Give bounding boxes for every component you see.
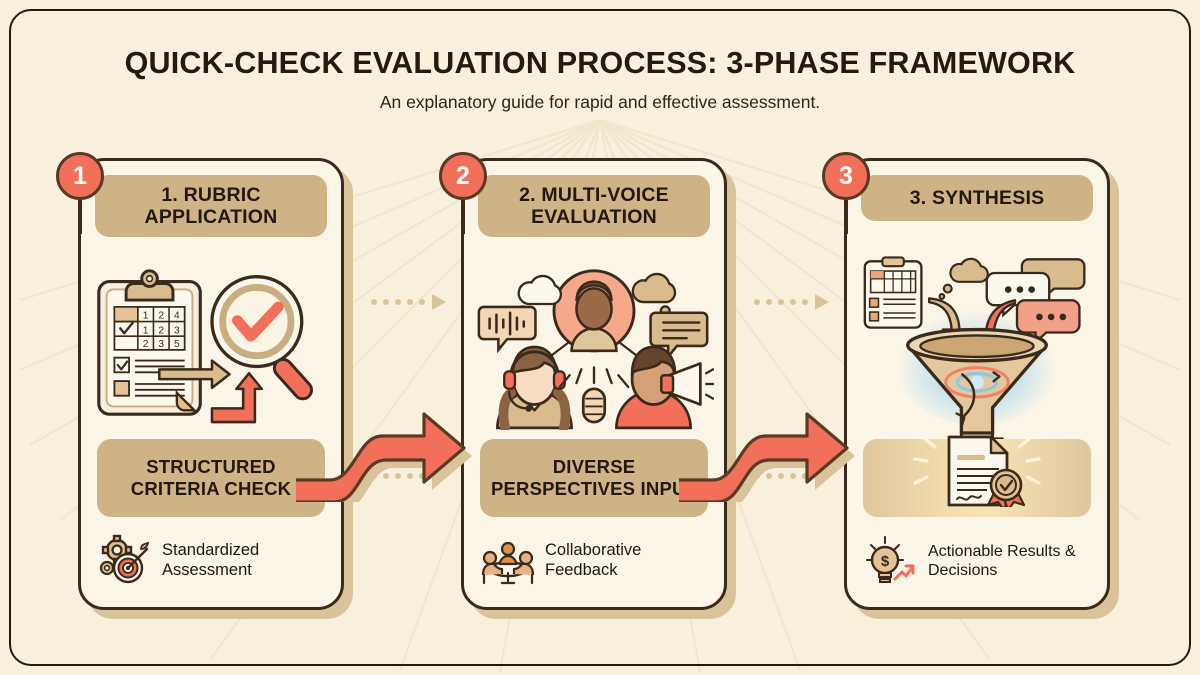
card-3-heading: 3. SYNTHESIS xyxy=(910,187,1045,209)
svg-text:2: 2 xyxy=(143,339,149,350)
svg-text:2: 2 xyxy=(158,311,164,322)
phase-badge-3: 3 xyxy=(822,152,870,200)
badge-2-circle: 2 xyxy=(439,152,487,200)
svg-text:$: $ xyxy=(881,553,890,570)
phase-badge-1: 1 xyxy=(56,152,104,200)
svg-text:2: 2 xyxy=(158,325,164,336)
card-1-heading: 1. RUBRIC APPLICATION xyxy=(103,184,319,228)
card-1-footer-text: Standardized Assessment xyxy=(162,541,329,581)
card-1-footer: Standardized Assessment xyxy=(97,533,329,589)
svg-text:1: 1 xyxy=(143,311,149,322)
gears-target-icon xyxy=(97,533,153,589)
page-title: QUICK-CHECK EVALUATION PROCESS: 3-PHASE … xyxy=(0,46,1200,81)
card-1-banner-text: STRUCTURED CRITERIA CHECK xyxy=(103,456,319,499)
card-3-illustration xyxy=(857,255,1097,433)
card-1-banner: STRUCTURED CRITERIA CHECK xyxy=(97,439,325,517)
badge-1-circle: 1 xyxy=(56,152,104,200)
card-3-footer-text: Actionable Results & Decisions xyxy=(928,542,1095,580)
phase-card-2[interactable]: 2. MULTI-VOICE EVALUATION xyxy=(461,158,727,610)
phase-badge-2: 2 xyxy=(439,152,487,200)
funnel-clipboard-speech-bubbles-icon xyxy=(857,255,1097,451)
card-3-footer: $ Actionable Results & Decisions xyxy=(863,533,1095,589)
card-2-illustration xyxy=(474,255,714,433)
phase-card-3[interactable]: 3. SYNTHESIS xyxy=(844,158,1110,610)
dotted-arrow-2-bottom xyxy=(753,466,833,486)
phase-card-1[interactable]: 1. RUBRIC APPLICATION 124 xyxy=(78,158,344,610)
badge-3-circle: 3 xyxy=(822,152,870,200)
svg-text:4: 4 xyxy=(174,311,180,322)
svg-text:3: 3 xyxy=(158,339,164,350)
svg-text:5: 5 xyxy=(174,339,180,350)
meeting-table-icon xyxy=(480,533,536,589)
card-2-banner-text: DIVERSE PERSPECTIVES INPUT xyxy=(486,456,702,499)
infographic-canvas: QUICK-CHECK EVALUATION PROCESS: 3-PHASE … xyxy=(0,0,1200,675)
card-2-heading-banner: 2. MULTI-VOICE EVALUATION xyxy=(478,175,710,237)
dotted-arrow-1-top xyxy=(370,292,450,312)
svg-text:1: 1 xyxy=(143,325,149,336)
dotted-arrow-1-bottom xyxy=(370,466,450,486)
card-3-heading-banner: 3. SYNTHESIS xyxy=(861,175,1093,221)
card-2-footer: Collaborative Feedback xyxy=(480,533,712,589)
svg-text:3: 3 xyxy=(174,325,180,336)
card-1-illustration: 124 123 235 xyxy=(91,255,331,433)
card-2-banner: DIVERSE PERSPECTIVES INPUT xyxy=(480,439,708,517)
people-speech-bubbles-microphone-megaphone-icon xyxy=(474,258,714,430)
certificate-award-icon xyxy=(877,433,1077,507)
header: QUICK-CHECK EVALUATION PROCESS: 3-PHASE … xyxy=(0,46,1200,113)
card-3-banner xyxy=(863,439,1091,517)
page-subtitle: An explanatory guide for rapid and effec… xyxy=(0,92,1200,113)
clipboard-rubric-magnifier-check-icon: 124 123 235 xyxy=(91,258,331,430)
card-2-footer-text: Collaborative Feedback xyxy=(545,541,712,581)
card-2-heading: 2. MULTI-VOICE EVALUATION xyxy=(486,184,702,228)
lightbulb-dollar-growth-icon: $ xyxy=(863,533,919,589)
card-1-heading-banner: 1. RUBRIC APPLICATION xyxy=(95,175,327,237)
dotted-arrow-2-top xyxy=(753,292,833,312)
